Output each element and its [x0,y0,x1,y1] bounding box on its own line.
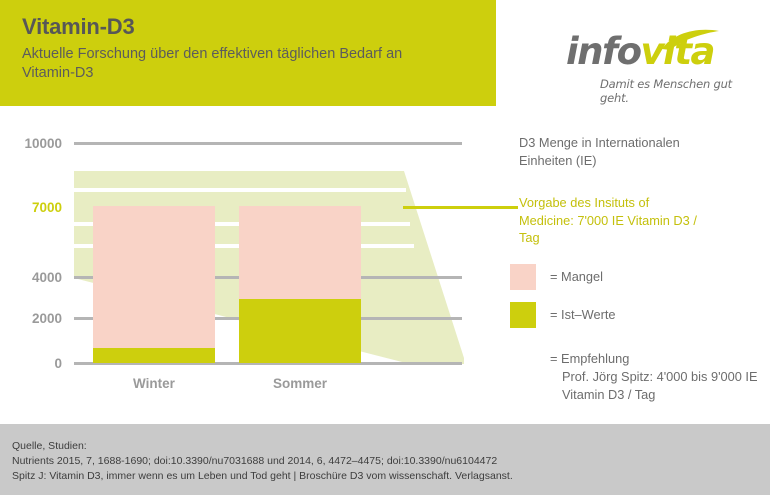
legend-label-empfehlung-sub2: Vitamin D3 / Tag [562,386,655,404]
xtick-sommer: Sommer [239,376,361,391]
footer-line-3: Spitz J: Vitamin D3, immer wenn es um Le… [12,469,758,484]
footer-sources: Quelle, Studien: Nutrients 2015, 7, 1688… [12,439,758,484]
logo: infovita Damit es Menschen gut geht. [566,31,751,95]
bar-winter-mangel [93,206,215,348]
bar-winter-ist [93,348,215,363]
legend-label-ist-werte: = Ist–Werte [550,306,616,324]
chart-legend: D3 Menge in Internationalen Einheiten (I… [519,118,770,418]
footer-band: Quelle, Studien: Nutrients 2015, 7, 1688… [0,424,770,495]
xtick-winter: Winter [93,376,215,391]
ytick-10000: 10000 [0,136,62,151]
legend-axis-note: D3 Menge in Internationalen Einheiten (I… [519,134,729,169]
legend-label-mangel: = Mangel [550,268,603,286]
footer-line-1: Quelle, Studien: [12,439,758,454]
ytick-4000: 4000 [0,270,62,285]
reference-line-7000 [403,206,518,209]
bar-sommer-ist [239,299,361,363]
legend-label-empfehlung: = Empfehlung [550,350,629,368]
swoosh-icon [661,29,723,51]
header-band: Vitamin-D3 Aktuelle Forschung über den e… [0,0,496,106]
bar-sommer-mangel [239,206,361,299]
logo-tagline: Damit es Menschen gut geht. [600,77,751,105]
ytick-0: 0 [0,356,62,371]
chart-area: 10000 7000 4000 2000 0 Winter Sommer D3 … [0,118,770,418]
ytick-7000: 7000 [0,200,62,215]
legend-swatch-mangel [510,264,536,290]
infographic-page: Vitamin-D3 Aktuelle Forschung über den e… [0,0,770,495]
ytick-2000: 2000 [0,311,62,326]
footer-line-2: Nutrients 2015, 7, 1688-1690; doi:10.339… [12,454,758,469]
gridline-10000 [74,142,462,145]
page-subtitle: Aktuelle Forschung über den effektiven t… [22,45,442,83]
page-title: Vitamin-D3 [22,14,135,40]
logo-text-info: info [566,30,641,73]
legend-label-empfehlung-sub1: Prof. Jörg Spitz: 4'000 bis 9'000 IE [562,368,758,386]
legend-swatch-ist-werte [510,302,536,328]
legend-reference-note: Vorgabe des Insituts of Medicine: 7'000 … [519,194,704,247]
